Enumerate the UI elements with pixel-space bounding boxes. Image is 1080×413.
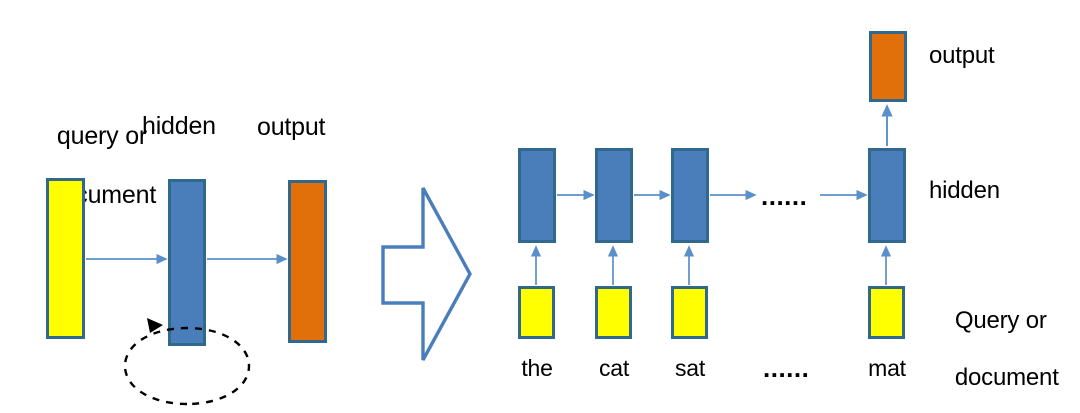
right-output-label: output bbox=[929, 42, 995, 70]
right-hidden-box-1[interactable] bbox=[518, 148, 556, 243]
right-input-box-3[interactable] bbox=[671, 286, 708, 339]
right-hidden-box-2[interactable] bbox=[595, 148, 633, 243]
word-label-1: the bbox=[515, 355, 559, 382]
right-input-box-last[interactable] bbox=[868, 286, 905, 339]
hidden-row-ellipsis: ...... bbox=[761, 183, 807, 209]
left-hidden-box[interactable] bbox=[168, 179, 206, 346]
left-input-label: query or document bbox=[16, 92, 161, 240]
left-input-box[interactable] bbox=[46, 178, 85, 339]
right-hidden-box-last[interactable] bbox=[868, 148, 906, 243]
left-output-box[interactable] bbox=[288, 180, 327, 343]
word-label-3: sat bbox=[668, 355, 712, 382]
right-output-box[interactable] bbox=[869, 31, 907, 102]
word-label-2: cat bbox=[592, 355, 636, 382]
right-input-label-line2: document bbox=[955, 364, 1059, 391]
diagram-canvas: query or document hidden output output h… bbox=[0, 0, 1080, 413]
left-hidden-label: hidden bbox=[142, 112, 216, 142]
right-input-label-line1: Query or bbox=[955, 307, 1047, 334]
right-hidden-label: hidden bbox=[929, 177, 1000, 205]
right-hidden-box-3[interactable] bbox=[671, 148, 709, 243]
transform-block-arrow bbox=[383, 188, 470, 360]
right-input-label: Query or document bbox=[929, 279, 1059, 413]
word-row-ellipsis: ...... bbox=[763, 355, 809, 381]
right-input-box-1[interactable] bbox=[518, 286, 555, 339]
right-input-box-2[interactable] bbox=[595, 286, 632, 339]
word-label-last: mat bbox=[865, 355, 909, 382]
left-input-label-line1: query or bbox=[57, 122, 147, 150]
left-output-label: output bbox=[257, 113, 325, 143]
